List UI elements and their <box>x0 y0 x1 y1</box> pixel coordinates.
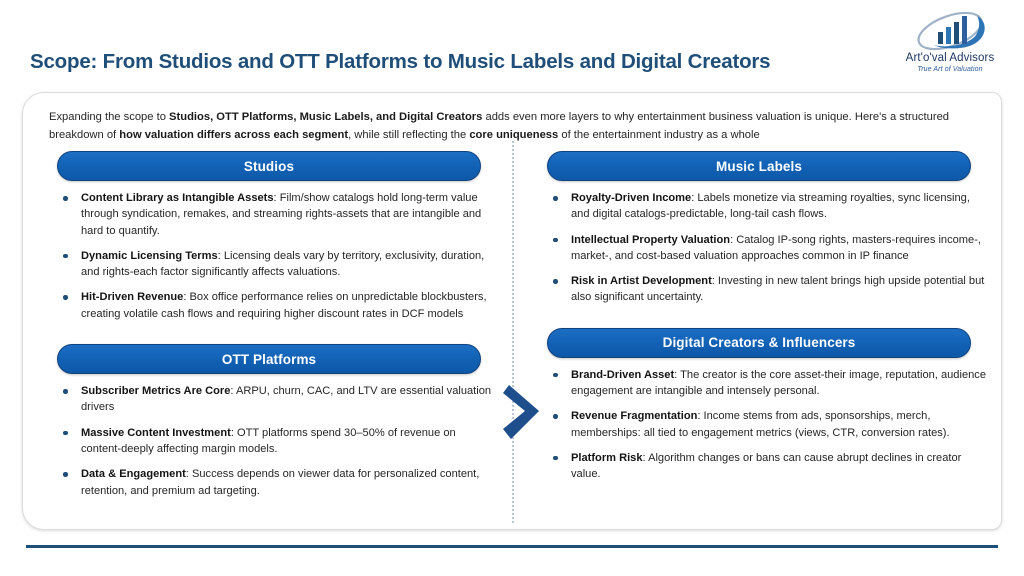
intro-text: , while still reflecting the <box>348 129 469 141</box>
list-item: Subscriber Metrics Are Core: ARPU, churn… <box>61 383 497 416</box>
list-item-term: Intellectual Property Valuation <box>571 234 730 246</box>
list-item-term: Data & Engagement <box>81 468 186 480</box>
list-item: Platform Risk: Algorithm changes or bans… <box>551 450 987 483</box>
content-card: Expanding the scope to Studios, OTT Plat… <box>22 92 1002 530</box>
chevron-right-icon <box>501 381 547 443</box>
list-item: Dynamic Licensing Terms: Licensing deals… <box>61 248 497 281</box>
list-item-term: Risk in Artist Development <box>571 275 712 287</box>
list-item-term: Subscriber Metrics Are Core <box>81 385 230 397</box>
list-item: Massive Content Investment: OTT platform… <box>61 425 497 458</box>
list-item-term: Brand-Driven Asset <box>571 369 674 381</box>
list-item: Brand-Driven Asset: The creator is the c… <box>551 367 987 400</box>
list-item: Data & Engagement: Success depends on vi… <box>61 466 497 499</box>
list-item-term: Hit-Driven Revenue <box>81 291 183 303</box>
list-item-term: Content Library as Intangible Assets <box>81 192 274 204</box>
bullet-list-music-labels: Royalty-Driven Income: Labels monetize v… <box>551 190 987 306</box>
company-logo: Art'o'val Advisors True Art of Valuation <box>894 8 1006 80</box>
section-studios: Studios Content Library as Intangible As… <box>33 151 503 322</box>
logo-company-name: Art'o'val Advisors <box>894 52 1006 65</box>
section-digital-creators: Digital Creators & Influencers Brand-Dri… <box>523 328 993 483</box>
list-item: Hit-Driven Revenue: Box office performan… <box>61 289 497 322</box>
bullet-list-ott-platforms: Subscriber Metrics Are Core: ARPU, churn… <box>61 383 497 499</box>
list-item-term: Revenue Fragmentation <box>571 410 697 422</box>
bullet-list-digital-creators: Brand-Driven Asset: The creator is the c… <box>551 367 987 483</box>
column-right: Music Labels Royalty-Driven Income: Labe… <box>513 151 1003 529</box>
intro-text: Expanding the scope to <box>49 111 169 123</box>
list-item: Intellectual Property Valuation: Catalog… <box>551 232 987 265</box>
segment-columns: Studios Content Library as Intangible As… <box>23 151 1003 529</box>
section-music-labels: Music Labels Royalty-Driven Income: Labe… <box>523 151 993 306</box>
intro-emphasis: Studios, OTT Platforms, Music Labels, an… <box>169 111 482 123</box>
section-ott-platforms: OTT Platforms Subscriber Metrics Are Cor… <box>33 344 503 499</box>
section-heading-music-labels: Music Labels <box>547 151 971 181</box>
footer-rule <box>26 545 998 548</box>
list-item: Revenue Fragmentation: Income stems from… <box>551 408 987 441</box>
column-left: Studios Content Library as Intangible As… <box>23 151 513 529</box>
logo-tagline: True Art of Valuation <box>894 66 1006 73</box>
page-title: Scope: From Studios and OTT Platforms to… <box>30 50 770 74</box>
bar-chart-swoosh-icon <box>894 8 1006 52</box>
list-item-term: Massive Content Investment <box>81 427 231 439</box>
section-heading-digital-creators: Digital Creators & Influencers <box>547 328 971 358</box>
list-item: Risk in Artist Development: Investing in… <box>551 273 987 306</box>
intro-text: of the entertainment industry as a whole <box>558 129 760 141</box>
bullet-list-studios: Content Library as Intangible Assets: Fi… <box>61 190 497 322</box>
list-item-term: Royalty-Driven Income <box>571 192 691 204</box>
list-item-term: Dynamic Licensing Terms <box>81 250 218 262</box>
list-item-term: Platform Risk <box>571 452 643 464</box>
intro-emphasis: core uniqueness <box>469 129 558 141</box>
list-item: Content Library as Intangible Assets: Fi… <box>61 190 497 239</box>
intro-paragraph: Expanding the scope to Studios, OTT Plat… <box>49 109 977 144</box>
intro-emphasis: how valuation differs across each segmen… <box>119 129 348 141</box>
section-heading-ott-platforms: OTT Platforms <box>57 344 481 374</box>
section-heading-studios: Studios <box>57 151 481 181</box>
slide-header: Scope: From Studios and OTT Platforms to… <box>0 0 1024 92</box>
list-item: Royalty-Driven Income: Labels monetize v… <box>551 190 987 223</box>
